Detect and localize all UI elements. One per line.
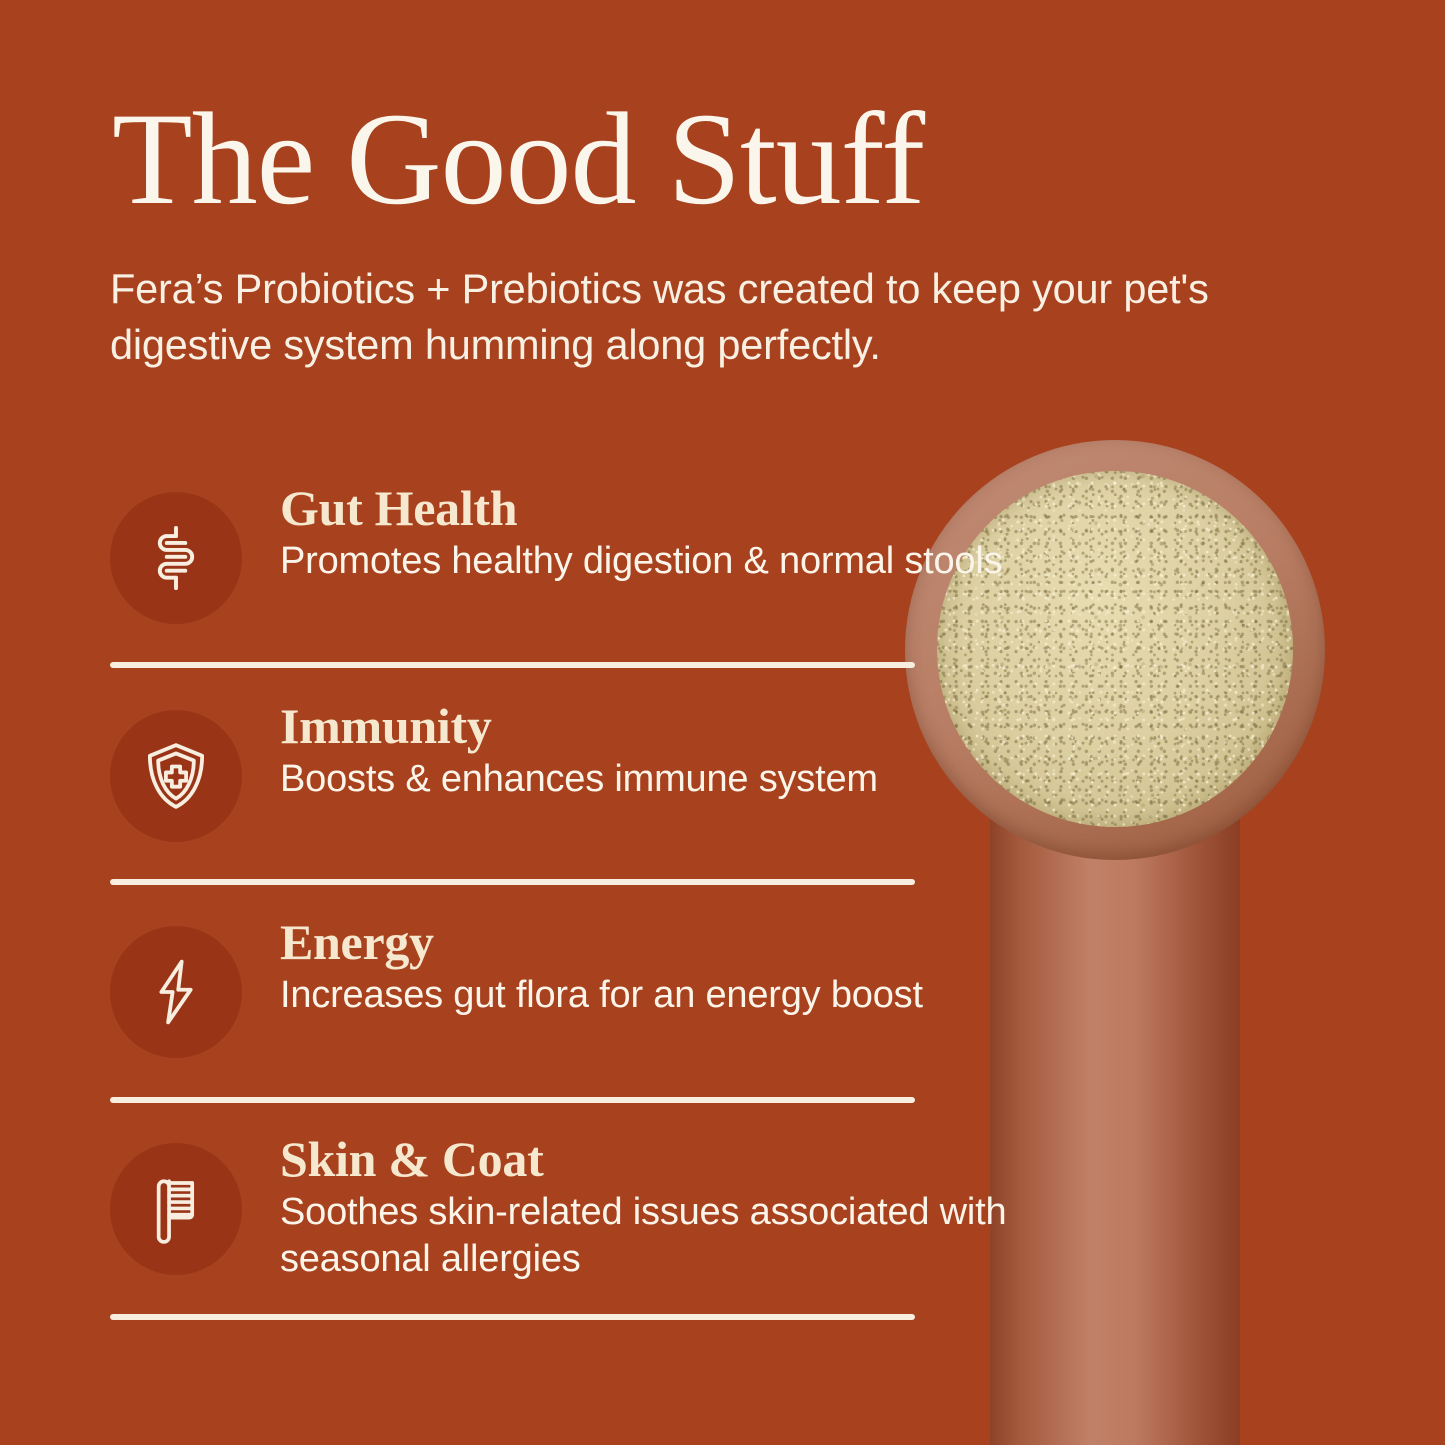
intestines-icon: [110, 492, 242, 624]
comb-icon: [110, 1143, 242, 1275]
benefit-divider-1: [110, 662, 915, 668]
benefit-divider-2: [110, 879, 915, 885]
good-stuff-infographic: The Good Stuff Fera’s Probiotics + Prebi…: [0, 0, 1445, 1445]
benefit-text-block: Gut Health Promotes healthy digestion & …: [280, 480, 1040, 585]
benefit-heading: Energy: [280, 914, 1040, 970]
benefit-heading: Gut Health: [280, 480, 1040, 536]
lightning-bolt-icon: [110, 926, 242, 1058]
benefit-heading: Immunity: [280, 698, 1040, 754]
benefit-description: Boosts & enhances immune system: [280, 756, 1040, 803]
benefit-divider-4: [110, 1314, 915, 1320]
benefits-list: Gut Health Promotes healthy digestion & …: [0, 0, 1445, 1445]
shield-cross-icon: [110, 710, 242, 842]
benefit-item-gut-health: Gut Health Promotes healthy digestion & …: [110, 492, 1010, 707]
benefit-item-skin-coat: Skin & Coat Soothes skin-related issues …: [110, 1143, 1010, 1358]
benefit-item-immunity: Immunity Boosts & enhances immune system: [110, 710, 1010, 925]
benefit-description: Increases gut flora for an energy boost: [280, 972, 1040, 1019]
benefit-text-block: Energy Increases gut flora for an energy…: [280, 914, 1040, 1019]
benefit-divider-3: [110, 1097, 915, 1103]
benefit-item-energy: Energy Increases gut flora for an energy…: [110, 926, 1010, 1141]
benefit-text-block: Skin & Coat Soothes skin-related issues …: [280, 1131, 1040, 1283]
benefit-description: Promotes healthy digestion & normal stoo…: [280, 538, 1040, 585]
benefit-description: Soothes skin-related issues associated w…: [280, 1189, 1040, 1283]
benefit-heading: Skin & Coat: [280, 1131, 1040, 1187]
benefit-text-block: Immunity Boosts & enhances immune system: [280, 698, 1040, 803]
